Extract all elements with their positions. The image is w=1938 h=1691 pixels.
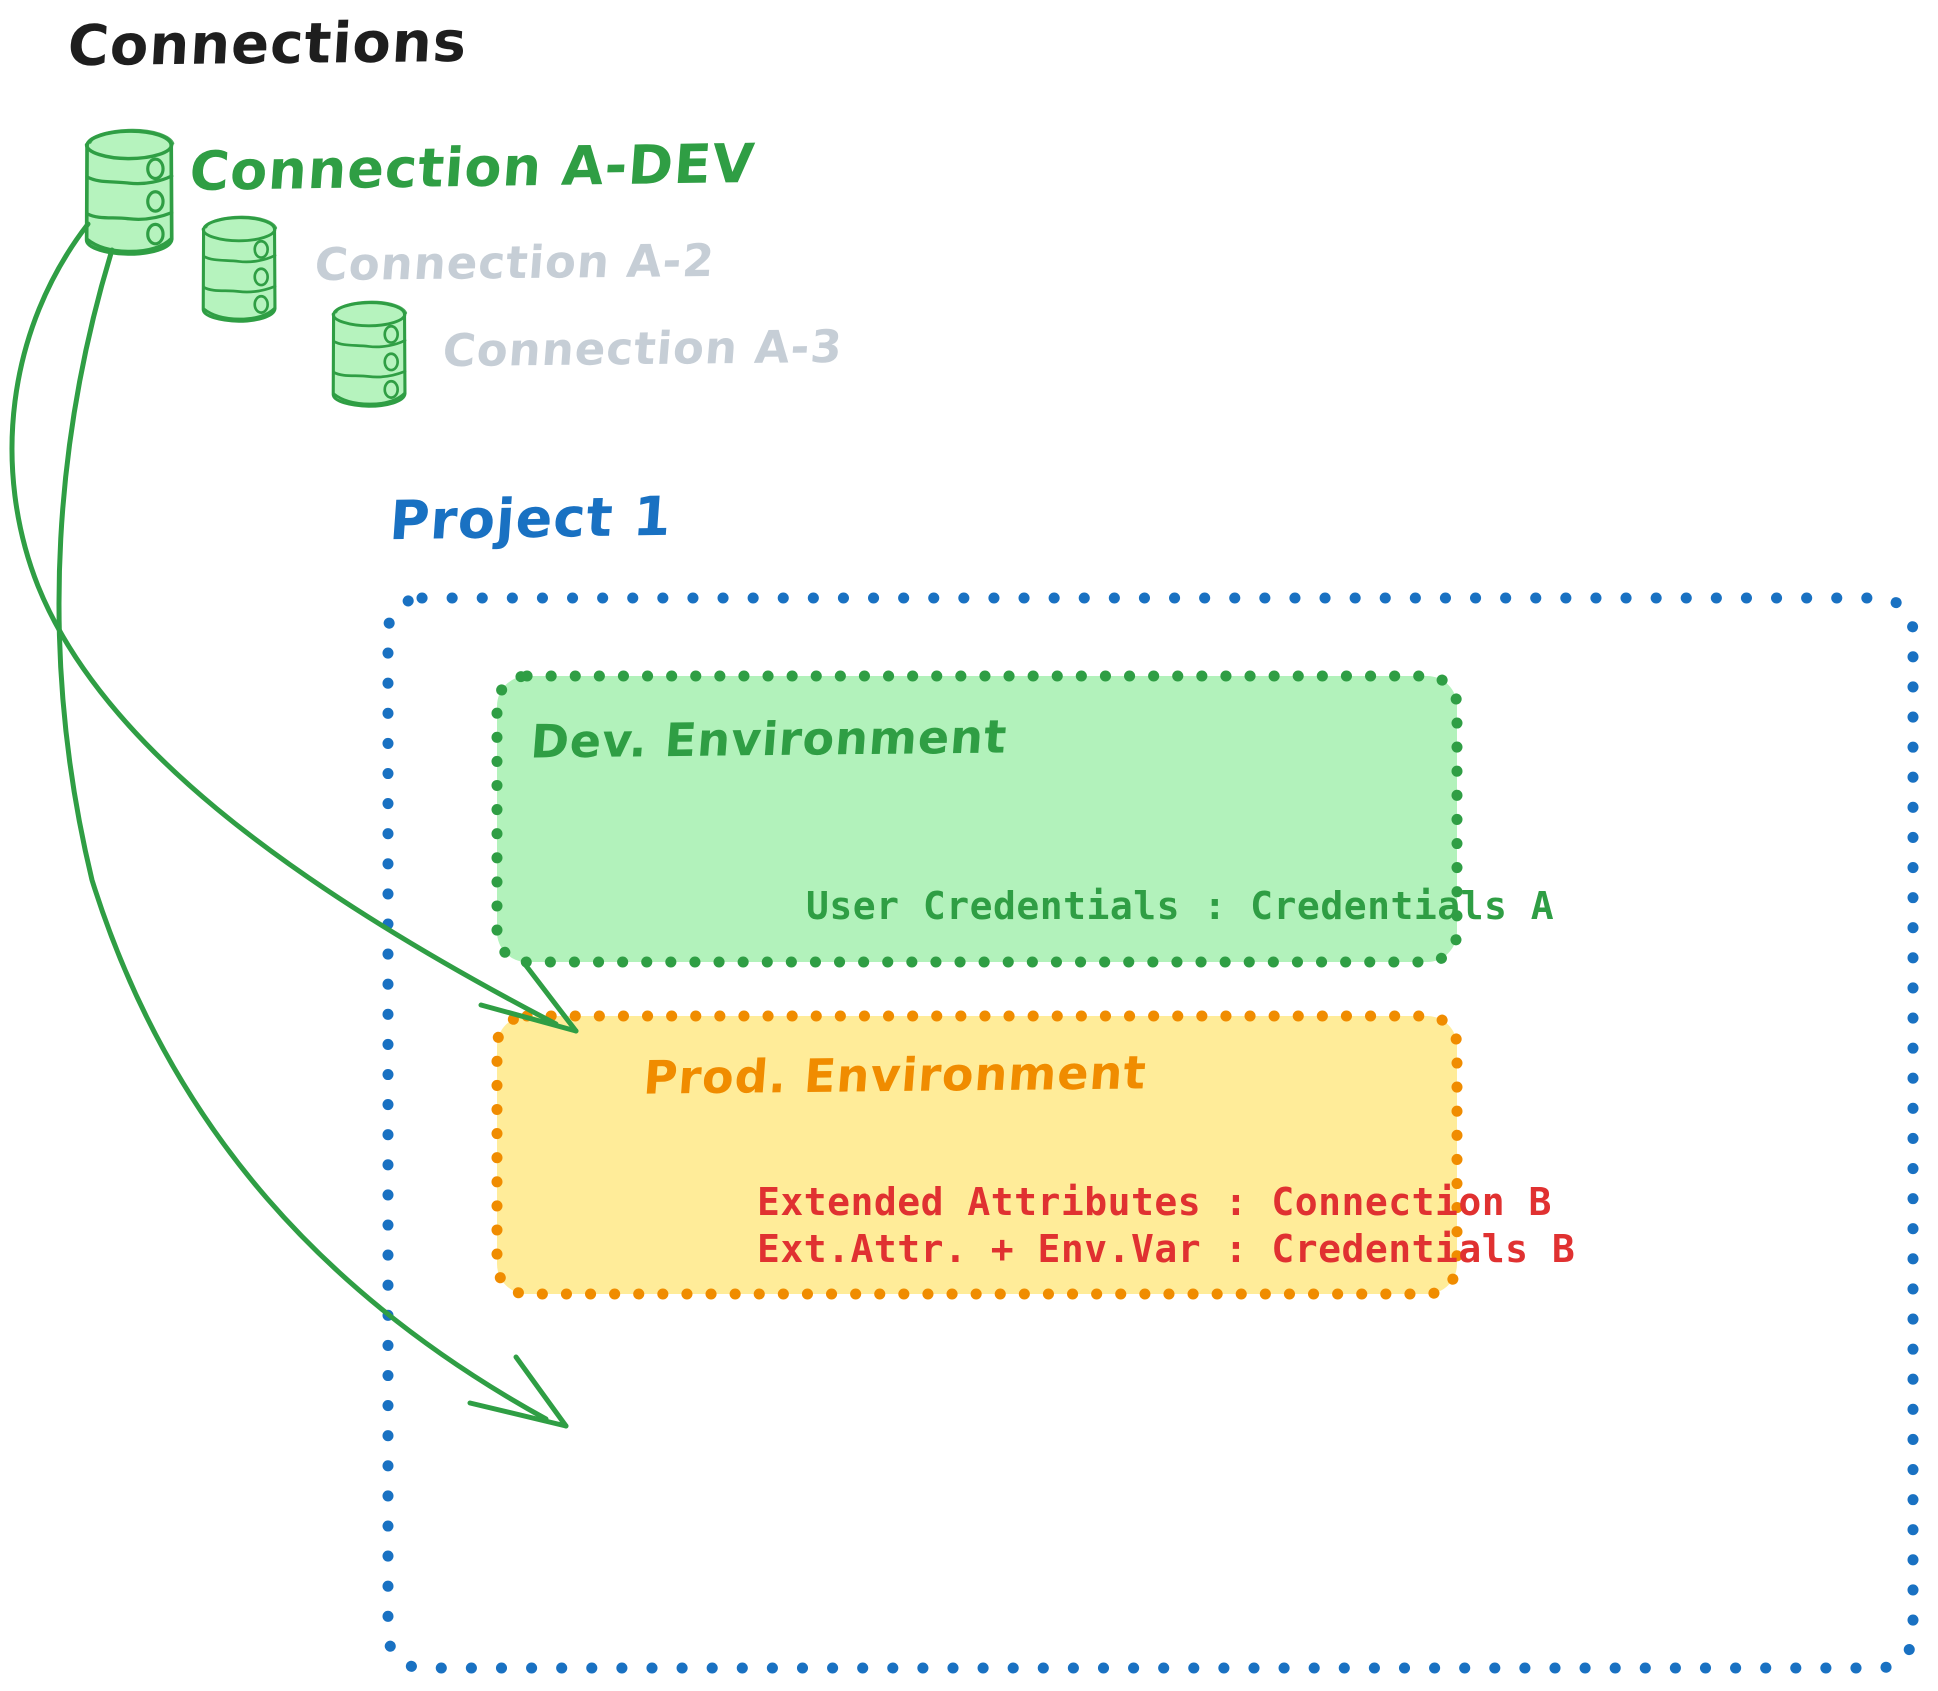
dev-environment-title: Dev. Environment bbox=[529, 710, 1010, 769]
database-icon-connection-a-dev bbox=[86, 130, 173, 254]
prod-environment-row-extended-attributes: Extended Attributes : Connection B bbox=[757, 1180, 1552, 1224]
connection-label-a-2[interactable]: Connection A-2 bbox=[313, 234, 717, 291]
prod-environment-row-ext-attr-env-var: Ext.Attr. + Env.Var : Credentials B bbox=[757, 1227, 1575, 1271]
diagram-artwork bbox=[0, 0, 1938, 1691]
project-title: Project 1 bbox=[388, 485, 675, 552]
database-icon-connection-a-2 bbox=[203, 217, 276, 322]
diagram-canvas: Connections Connection A-DEV Connection … bbox=[0, 0, 1938, 1691]
connection-label-a-dev[interactable]: Connection A-DEV bbox=[187, 132, 757, 203]
connection-label-a-3[interactable]: Connection A-3 bbox=[441, 320, 845, 377]
database-icon-connection-a-3 bbox=[333, 302, 406, 407]
dev-environment-row-user-credentials: User Credentials : Credentials A bbox=[806, 884, 1554, 928]
arrow-conn-to-prod bbox=[59, 250, 566, 1426]
page-title: Connections bbox=[66, 10, 469, 79]
prod-environment-title: Prod. Environment bbox=[642, 1045, 1149, 1104]
